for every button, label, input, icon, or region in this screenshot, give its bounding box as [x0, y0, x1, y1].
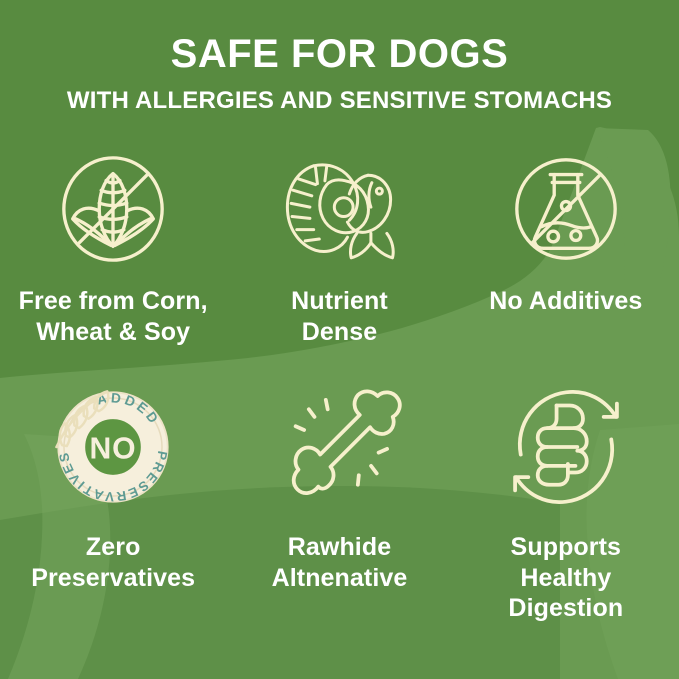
- bone-icon: [272, 380, 406, 514]
- feature-caption: Free from Corn, Wheat & Soy: [19, 286, 208, 347]
- feature-caption: Nutrient Dense: [291, 286, 388, 347]
- feature-caption: Supports Healthy Digestion: [508, 532, 623, 624]
- feature-caption: Rawhide Altnenative: [272, 532, 408, 593]
- feature-grid: Free from Corn, Wheat & Soy: [0, 148, 679, 644]
- no-added-preservatives-badge-icon: NO ADDED PRESERVATIVES: [46, 380, 180, 514]
- page-title: SAFE FOR DOGS: [0, 34, 679, 76]
- feature-item-supports-healthy-digestion: Supports Healthy Digestion: [453, 380, 679, 644]
- feature-item-nutrient-dense: Nutrient Dense: [226, 148, 452, 380]
- feature-caption: Zero Preservatives: [31, 532, 195, 593]
- feature-item-no-corn: Free from Corn, Wheat & Soy: [0, 148, 226, 380]
- no-additives-flask-icon: [505, 148, 627, 270]
- badge-center-text: NO: [90, 432, 137, 465]
- healthy-digestion-icon: [499, 380, 633, 514]
- feature-caption: No Additives: [489, 286, 642, 317]
- no-corn-icon: [52, 148, 174, 270]
- poster-header: SAFE FOR DOGS WITH ALLERGIES AND SENSITI…: [0, 34, 679, 113]
- feature-item-no-additives: No Additives: [453, 148, 679, 380]
- page-subtitle: WITH ALLERGIES AND SENSITIVE STOMACHS: [0, 88, 679, 113]
- feature-item-rawhide-alternative: Rawhide Altnenative: [226, 380, 452, 644]
- safe-for-dogs-poster: SAFE FOR DOGS WITH ALLERGIES AND SENSITI…: [0, 0, 679, 679]
- nutrient-dense-icon: [278, 148, 400, 270]
- feature-item-zero-preservatives: NO ADDED PRESERVATIVES: [0, 380, 226, 644]
